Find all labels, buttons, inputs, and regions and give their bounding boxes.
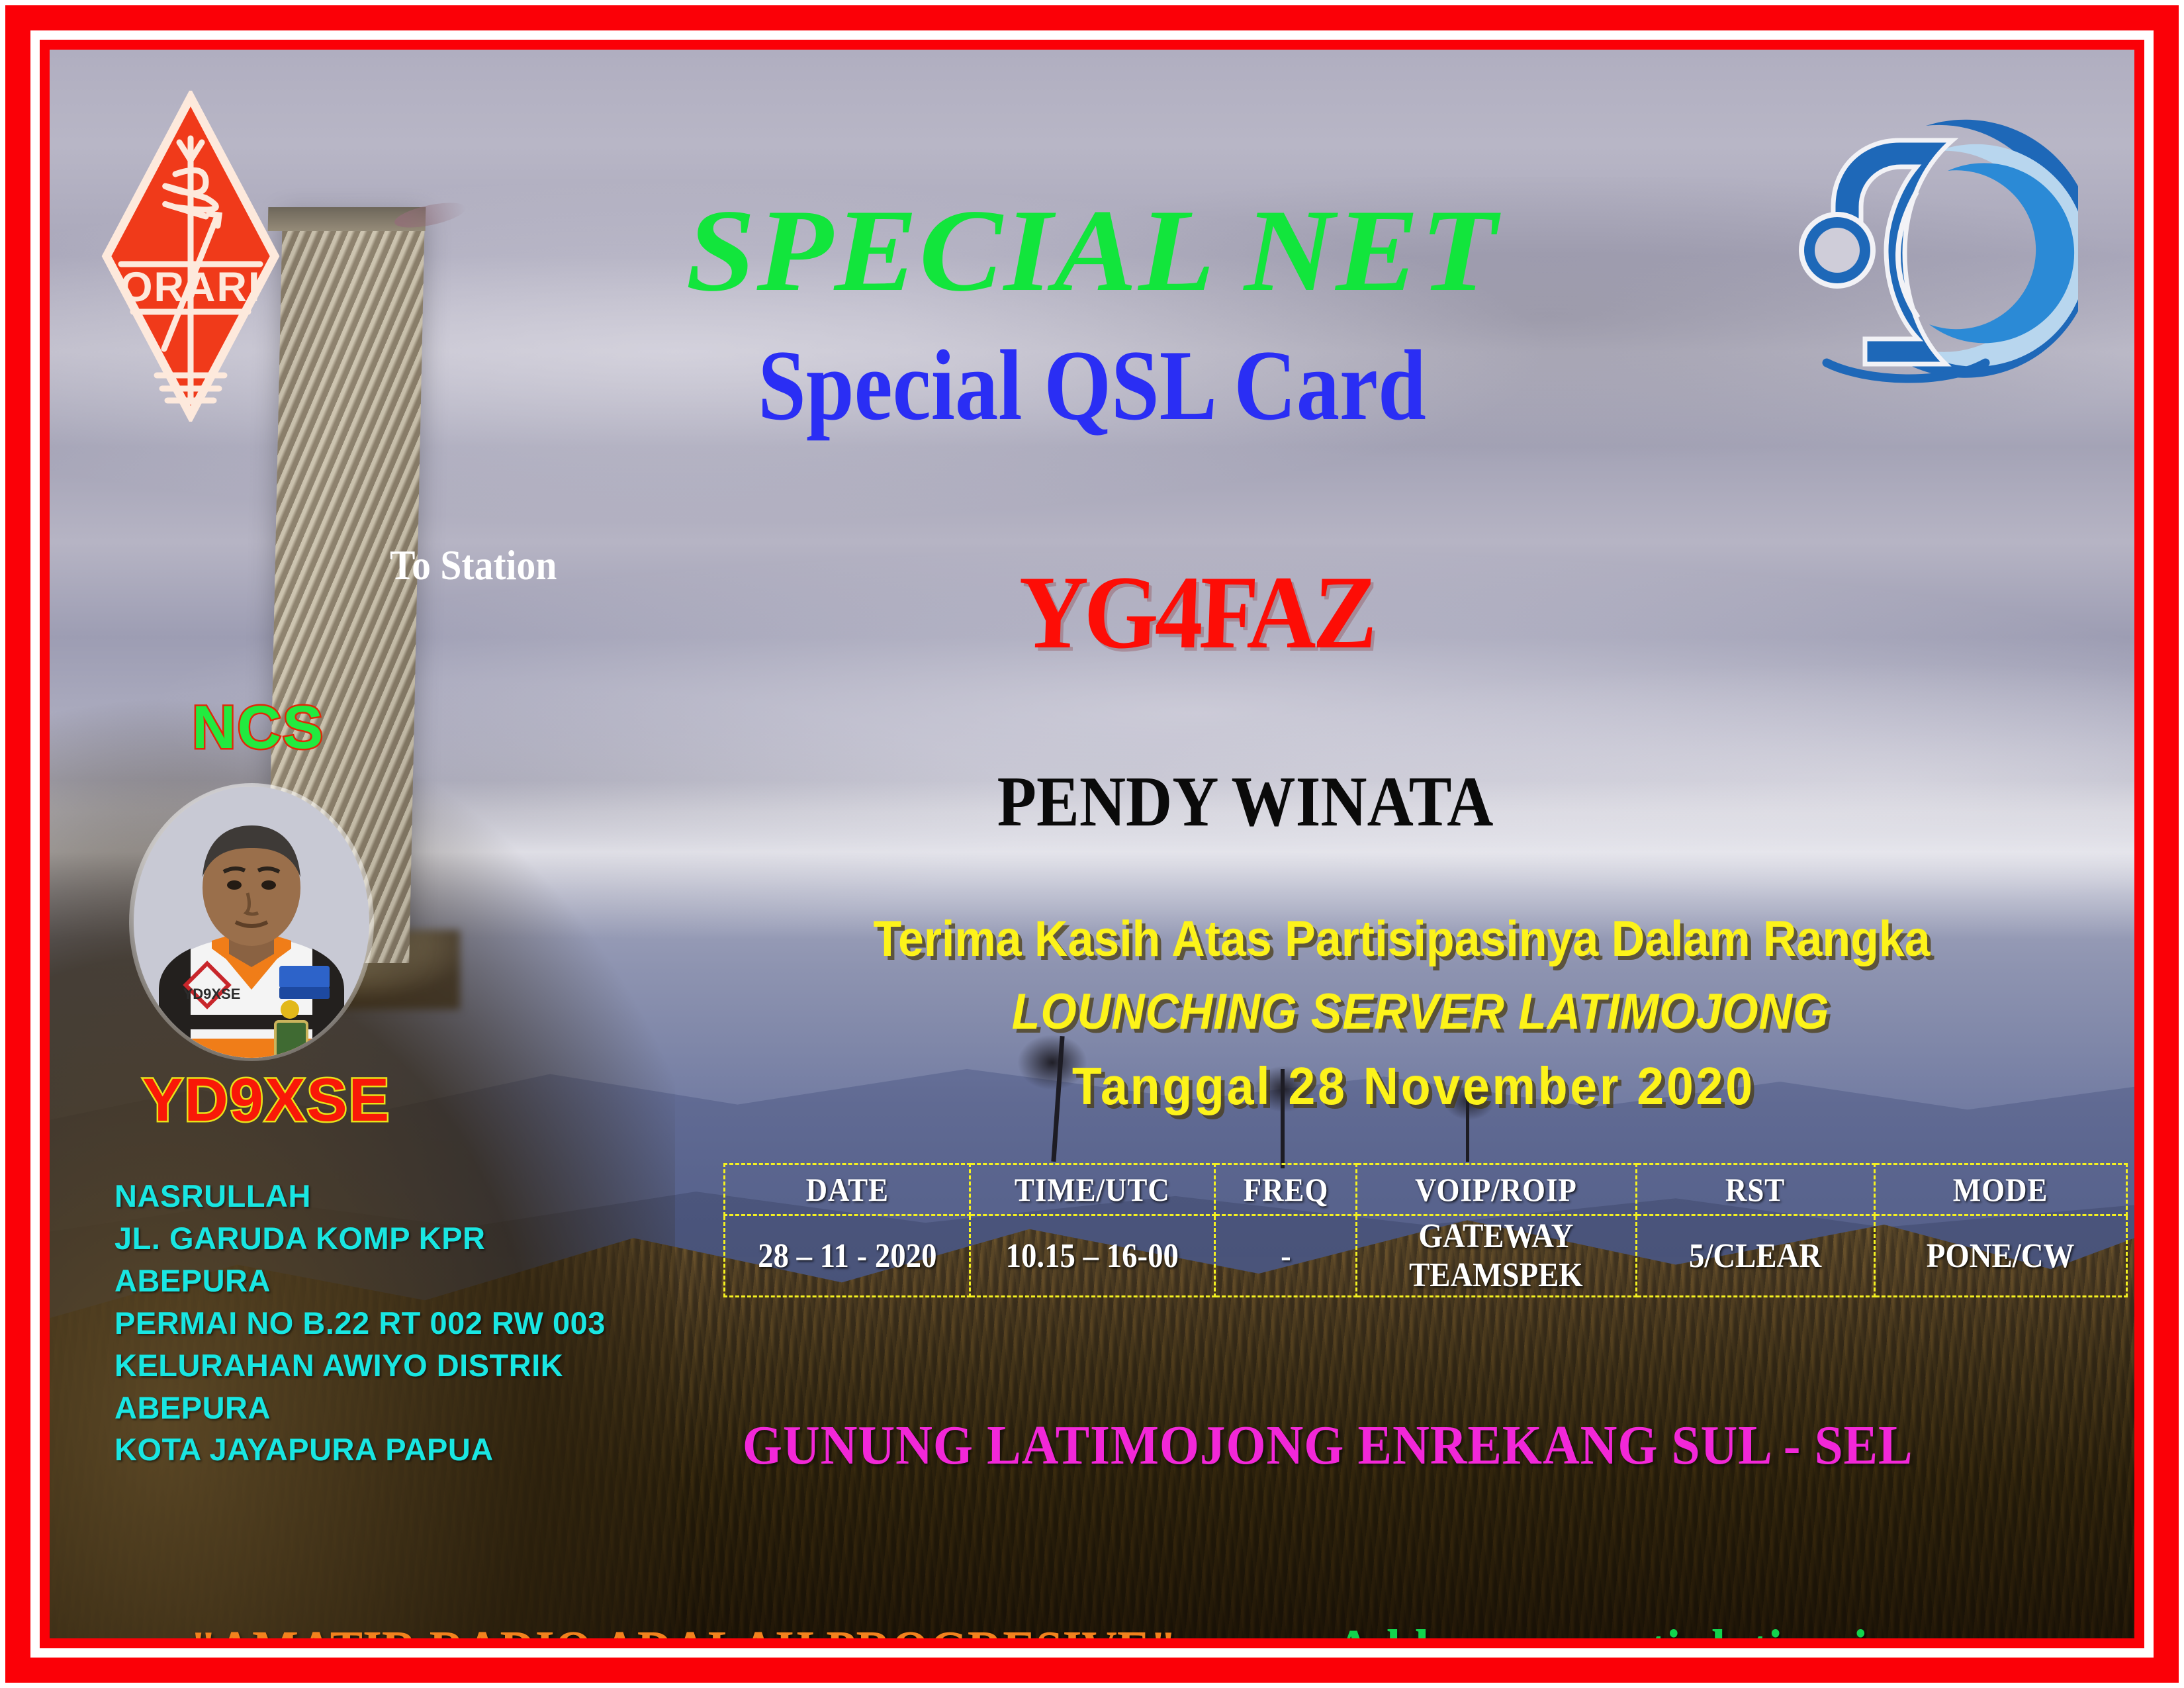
to-station-label: To Station [390,541,557,590]
qsl-card: ORARI SPECIAL NET Special QSL Card To St… [0,0,2184,1688]
column-header-date: DATE [737,1164,958,1215]
cell-voip-line-1: GATEWAY [1372,1217,1621,1256]
cell-voip-line-2: TEAMSPEK [1372,1256,1621,1295]
address-line: NASRULLAH [114,1175,657,1217]
cell-mode: PONE/CW [1887,1215,2114,1297]
station-callsign: YG4FAZ [1016,553,1375,673]
thanks-line-3: Tanggal 28 November 2020 [1072,1056,1755,1117]
card-photo-stage: ORARI SPECIAL NET Special QSL Card To St… [50,50,2134,1638]
address-line: KELURAHAN AWIYO DISTRIK [114,1344,657,1387]
ncs-operator-photo: YD9XSE [113,771,390,1069]
qso-log-table: DATE TIME/UTC FREQ VOIP/ROIP RST MODE 28… [723,1163,2128,1297]
column-header-mode: MODE [1887,1164,2114,1215]
address-line: KOTA JAYAPURA PAPUA [114,1429,657,1471]
address-line: JL. GARUDA KOMP KPR [114,1217,657,1260]
svg-text:YD9XSE: YD9XSE [183,986,241,1002]
column-header-time: TIME/UTC [982,1164,1203,1215]
table-header-row: DATE TIME/UTC FREQ VOIP/ROIP RST MODE [725,1164,2127,1215]
address-line: ABEPURA [114,1387,657,1429]
cell-rst: 5/CLEAR [1648,1215,1862,1297]
cell-date: 28 – 11 - 2020 [737,1215,958,1297]
ncs-label: NCS [192,693,324,763]
page-subtitle: Special QSL Card [196,328,1989,443]
table-row: 28 – 11 - 2020 10.15 – 16-00 - GATEWAY T… [725,1215,2127,1297]
page-title: SPECIAL NET [50,182,2134,318]
operator-name: PENDY WINATA [997,761,1494,843]
thanks-line-2: LOUNCHING SERVER LATIMOJONG [1012,983,1830,1041]
station-address-block: NASRULLAH JL. GARUDA KOMP KPR ABEPURA PE… [114,1175,657,1471]
cell-time: 10.15 – 16-00 [982,1215,1203,1297]
ncs-callsign: YD9XSE [142,1066,390,1135]
thanks-line-1: Terima Kasih Atas Partisipasinya Dalam R… [873,910,1930,968]
website-address: Address : amatir.latimojong.com [1335,1617,2051,1638]
cell-voip: GATEWAY TEAMSPEK [1371,1215,1623,1297]
address-line: PERMAI NO B.22 RT 002 RW 003 [114,1302,657,1344]
slogan-text: "AMATIR RADIO ADALAH PROGRESIVE" [190,1618,1177,1638]
address-line: ABEPURA [114,1260,657,1302]
cell-freq: - [1222,1215,1349,1297]
column-header-freq: FREQ [1222,1164,1349,1215]
location-line: GUNUNG LATIMOJONG ENREKANG SUL - SEL [743,1413,1913,1477]
column-header-rst: RST [1648,1164,1862,1215]
column-header-voip: VOIP/ROIP [1371,1164,1623,1215]
